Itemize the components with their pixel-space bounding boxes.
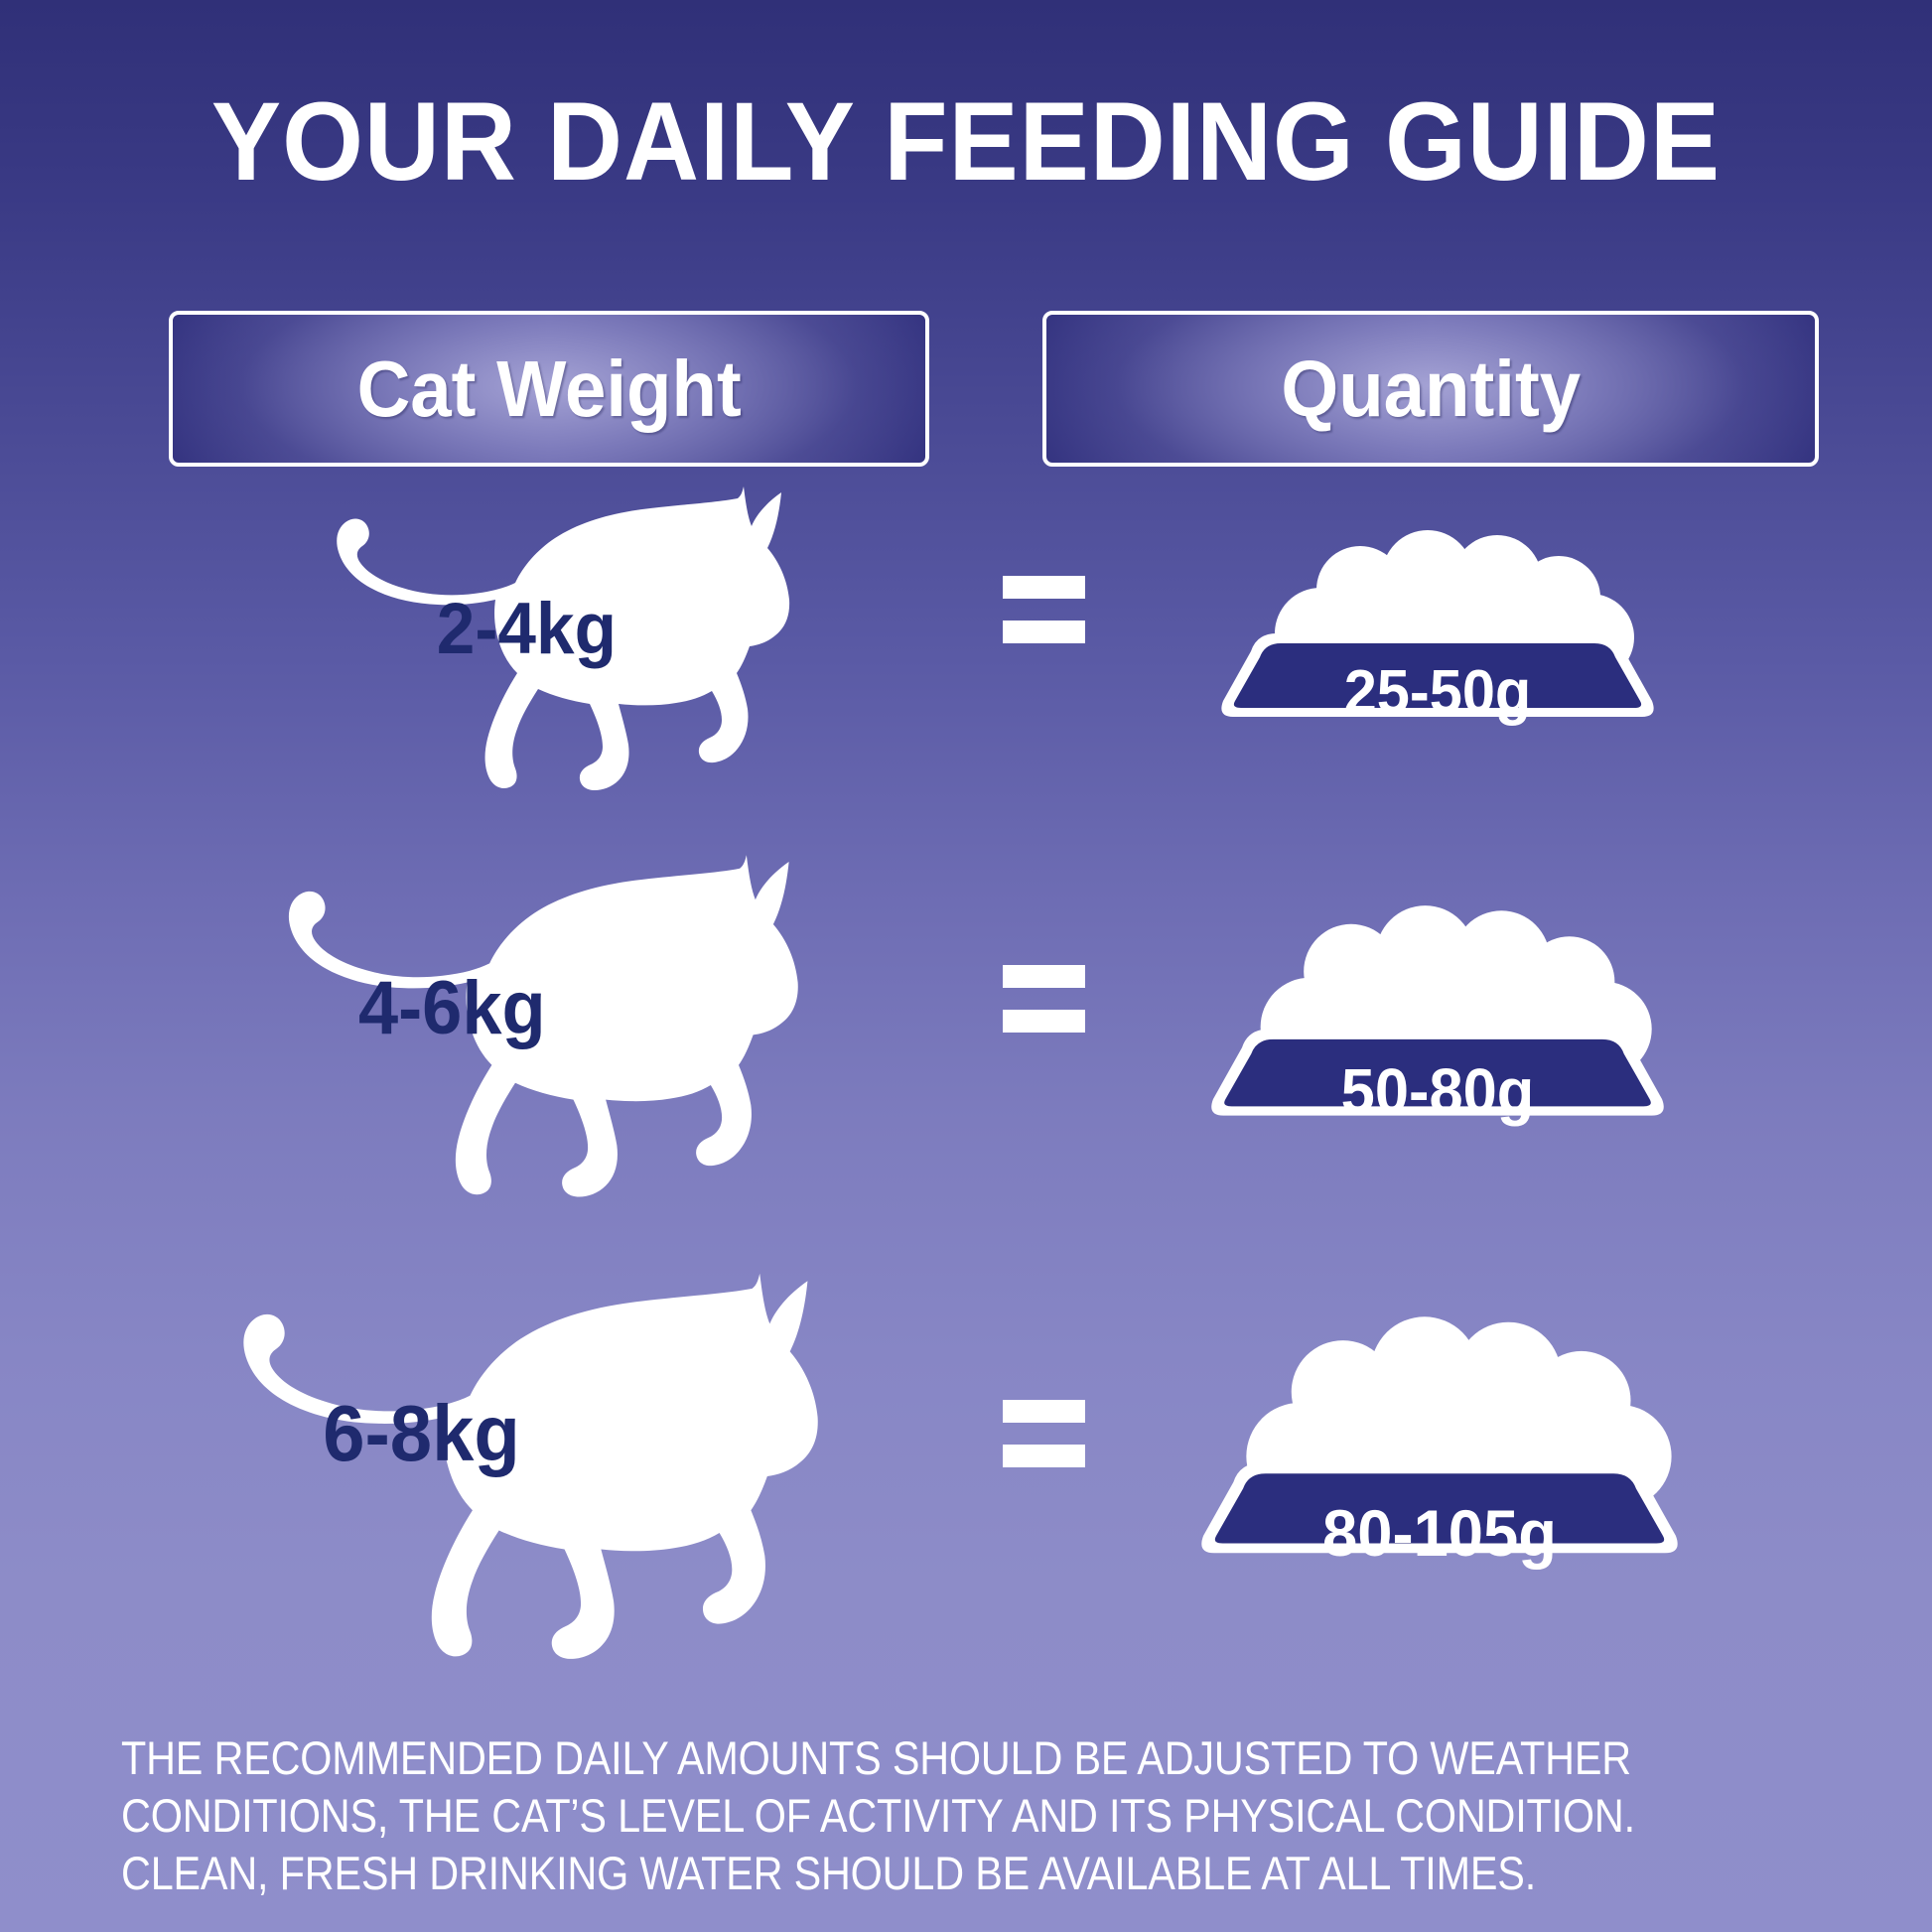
column-header-cat-weight-label: Cat Weight bbox=[356, 344, 741, 435]
column-header-cat-weight: Cat Weight bbox=[169, 311, 929, 467]
feeding-row: 2-4kg bbox=[0, 477, 1932, 794]
column-header-quantity: Quantity bbox=[1042, 311, 1819, 467]
equals-icon bbox=[1003, 965, 1085, 1033]
feeding-row: 6-8kg bbox=[0, 1261, 1932, 1678]
disclaimer-text: THE RECOMMENDED DAILY AMOUNTS SHOULD BE … bbox=[121, 1729, 1620, 1902]
cat-silhouette-icon: 6-8kg bbox=[62, 1261, 856, 1664]
disclaimer-line-1: THE RECOMMENDED DAILY AMOUNTS SHOULD BE … bbox=[121, 1729, 1620, 1787]
feeding-row: 4-6kg bbox=[0, 844, 1932, 1201]
quantity-label: 25-50g bbox=[1180, 657, 1695, 728]
equals-bar-bottom bbox=[1003, 1010, 1085, 1033]
cat-weight-label: 4-6kg bbox=[358, 965, 546, 1051]
equals-icon bbox=[1003, 576, 1085, 643]
equals-bar-top bbox=[1003, 576, 1085, 599]
equals-bar-top bbox=[1003, 1400, 1085, 1423]
cat-silhouette-icon: 2-4kg bbox=[194, 477, 819, 794]
food-bowl-icon: 80-105g bbox=[1150, 1311, 1729, 1579]
food-bowl-icon: 25-50g bbox=[1170, 506, 1706, 735]
page-title: YOUR DAILY FEEDING GUIDE bbox=[58, 83, 1873, 201]
column-header-quantity-label: Quantity bbox=[1281, 344, 1581, 435]
disclaimer-line-2: CONDITIONS, THE CAT’S LEVEL OF ACTIVITY … bbox=[121, 1787, 1620, 1845]
equals-bar-top bbox=[1003, 965, 1085, 988]
food-bowl-icon: 50-80g bbox=[1160, 890, 1716, 1138]
quantity-label: 50-80g bbox=[1171, 1054, 1705, 1128]
cat-weight-label: 6-8kg bbox=[323, 1388, 520, 1479]
equals-bar-bottom bbox=[1003, 621, 1085, 643]
disclaimer-line-3: CLEAN, FRESH DRINKING WATER SHOULD BE AV… bbox=[121, 1845, 1620, 1902]
cat-silhouette-icon: 4-6kg bbox=[127, 844, 832, 1201]
quantity-label: 80-105g bbox=[1162, 1495, 1719, 1571]
feeding-guide-infographic: YOUR DAILY FEEDING GUIDE Cat Weight Quan… bbox=[0, 0, 1932, 1932]
cat-weight-label: 2-4kg bbox=[437, 588, 617, 670]
equals-bar-bottom bbox=[1003, 1445, 1085, 1467]
equals-icon bbox=[1003, 1400, 1085, 1467]
